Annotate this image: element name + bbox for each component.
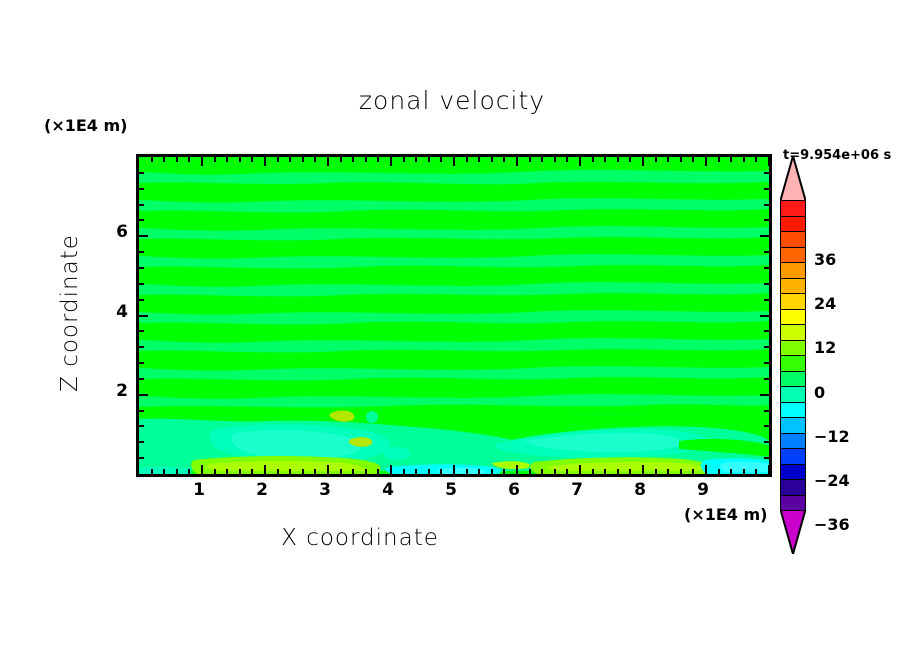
x-tick bbox=[163, 469, 165, 474]
x-tick bbox=[453, 157, 455, 166]
x-tick bbox=[239, 157, 241, 162]
y-tick bbox=[764, 267, 769, 269]
x-tick bbox=[340, 157, 342, 162]
x-tick bbox=[277, 157, 279, 162]
y-tick bbox=[760, 394, 769, 396]
y-tick-label: 4 bbox=[98, 302, 128, 322]
y-tick bbox=[764, 378, 769, 380]
colorbar-under-arrow bbox=[780, 508, 806, 554]
x-tick bbox=[529, 157, 531, 162]
x-tick bbox=[718, 469, 720, 474]
y-axis-unit-label: (×1E4 m) bbox=[44, 116, 127, 135]
y-tick bbox=[139, 235, 148, 237]
y-tick bbox=[139, 441, 144, 443]
y-tick bbox=[764, 362, 769, 364]
x-tick bbox=[214, 469, 216, 474]
y-tick bbox=[764, 283, 769, 285]
colorbar-tick-label: 36 bbox=[814, 250, 836, 269]
x-tick bbox=[176, 157, 178, 162]
y-tick bbox=[764, 219, 769, 221]
contour-plot-area bbox=[136, 154, 772, 477]
y-tick bbox=[139, 172, 144, 174]
x-tick bbox=[491, 469, 493, 474]
x-tick bbox=[692, 469, 694, 474]
y-tick-label: 6 bbox=[98, 222, 128, 242]
x-tick bbox=[403, 469, 405, 474]
x-tick-label: 6 bbox=[499, 480, 529, 500]
x-tick bbox=[352, 157, 354, 162]
y-tick bbox=[764, 425, 769, 427]
y-tick bbox=[764, 299, 769, 301]
colorbar-band bbox=[780, 324, 806, 341]
x-tick-label: 7 bbox=[562, 480, 592, 500]
colorbar-band bbox=[780, 417, 806, 434]
x-tick bbox=[730, 469, 732, 474]
x-tick bbox=[214, 157, 216, 162]
y-tick-label: 2 bbox=[98, 381, 128, 401]
velocity-field bbox=[139, 157, 769, 474]
x-tick bbox=[541, 157, 543, 162]
x-tick bbox=[755, 157, 757, 162]
x-tick bbox=[743, 469, 745, 474]
x-tick bbox=[352, 469, 354, 474]
colorbar-band bbox=[780, 402, 806, 419]
x-tick bbox=[680, 157, 682, 162]
x-tick bbox=[314, 469, 316, 474]
colorbar-band bbox=[780, 433, 806, 450]
x-tick bbox=[617, 157, 619, 162]
x-tick bbox=[579, 465, 581, 474]
x-tick bbox=[251, 157, 253, 162]
colorbar-band bbox=[780, 309, 806, 326]
x-tick bbox=[604, 469, 606, 474]
x-tick bbox=[390, 465, 392, 474]
colorbar-band bbox=[780, 200, 806, 217]
x-tick bbox=[440, 469, 442, 474]
y-tick bbox=[139, 410, 144, 412]
colorbar-band bbox=[780, 386, 806, 403]
x-tick bbox=[365, 157, 367, 162]
y-tick bbox=[764, 330, 769, 332]
x-tick bbox=[541, 469, 543, 474]
colorbar-band bbox=[780, 262, 806, 279]
y-tick bbox=[139, 425, 144, 427]
x-tick bbox=[579, 157, 581, 166]
x-tick bbox=[466, 157, 468, 162]
x-tick bbox=[302, 157, 304, 162]
x-tick bbox=[768, 465, 770, 474]
y-axis-label: Z coordinate bbox=[57, 203, 83, 423]
y-tick bbox=[764, 346, 769, 348]
y-tick bbox=[139, 394, 148, 396]
x-tick bbox=[566, 157, 568, 162]
colorbar-tick-label: −36 bbox=[814, 515, 850, 534]
x-tick bbox=[491, 157, 493, 162]
x-tick bbox=[478, 157, 480, 162]
x-tick-label: 5 bbox=[436, 480, 466, 500]
y-tick bbox=[764, 251, 769, 253]
x-tick-label: 1 bbox=[184, 480, 214, 500]
x-tick bbox=[201, 465, 203, 474]
colorbar-tick-label: −12 bbox=[814, 427, 850, 446]
x-tick bbox=[163, 157, 165, 162]
colorbar-tick-label: 0 bbox=[814, 383, 825, 402]
colorbar-band bbox=[780, 464, 806, 481]
y-tick bbox=[139, 457, 144, 459]
x-tick bbox=[415, 469, 417, 474]
y-tick bbox=[139, 346, 144, 348]
x-tick bbox=[516, 465, 518, 474]
colorbar-band bbox=[780, 355, 806, 372]
y-tick bbox=[764, 441, 769, 443]
x-tick bbox=[554, 157, 556, 162]
x-tick bbox=[516, 157, 518, 166]
x-tick bbox=[692, 157, 694, 162]
colorbar-over-arrow bbox=[780, 156, 806, 202]
x-tick bbox=[264, 465, 266, 474]
y-tick bbox=[760, 315, 769, 317]
y-tick bbox=[139, 267, 144, 269]
x-tick bbox=[264, 157, 266, 166]
x-tick bbox=[289, 469, 291, 474]
x-tick bbox=[503, 157, 505, 162]
x-tick bbox=[466, 469, 468, 474]
x-tick bbox=[629, 469, 631, 474]
colorbar-tick-label: 12 bbox=[814, 338, 836, 357]
x-tick bbox=[176, 469, 178, 474]
x-tick bbox=[302, 469, 304, 474]
x-tick bbox=[718, 157, 720, 162]
x-tick bbox=[226, 469, 228, 474]
x-tick bbox=[377, 157, 379, 162]
y-tick bbox=[760, 235, 769, 237]
colorbar-band bbox=[780, 278, 806, 295]
x-tick bbox=[151, 469, 153, 474]
x-tick bbox=[440, 157, 442, 162]
colorbar-band bbox=[780, 479, 806, 496]
y-tick bbox=[139, 188, 144, 190]
x-tick bbox=[226, 157, 228, 162]
y-tick bbox=[139, 378, 144, 380]
x-tick bbox=[239, 469, 241, 474]
y-tick bbox=[764, 172, 769, 174]
x-tick bbox=[629, 157, 631, 162]
y-tick bbox=[764, 457, 769, 459]
x-tick bbox=[201, 157, 203, 166]
x-tick bbox=[566, 469, 568, 474]
x-tick-label: 4 bbox=[373, 480, 403, 500]
colorbar-band bbox=[780, 247, 806, 264]
colorbar-tick-label: −24 bbox=[814, 471, 850, 490]
x-tick bbox=[188, 157, 190, 162]
x-tick bbox=[377, 469, 379, 474]
x-tick bbox=[340, 469, 342, 474]
x-tick bbox=[188, 469, 190, 474]
x-tick bbox=[705, 465, 707, 474]
y-tick bbox=[764, 410, 769, 412]
x-tick bbox=[730, 157, 732, 162]
x-tick bbox=[655, 157, 657, 162]
x-tick bbox=[554, 469, 556, 474]
x-tick bbox=[327, 465, 329, 474]
x-tick-label: 3 bbox=[310, 480, 340, 500]
y-tick bbox=[139, 362, 144, 364]
x-axis-label: X coordinate bbox=[0, 525, 720, 551]
x-tick bbox=[768, 157, 770, 166]
x-tick bbox=[277, 469, 279, 474]
x-tick-label: 2 bbox=[247, 480, 277, 500]
colorbar-band bbox=[780, 495, 806, 512]
colorbar-tick-label: 24 bbox=[814, 294, 836, 313]
x-tick bbox=[453, 465, 455, 474]
x-axis-unit-label: (×1E4 m) bbox=[684, 505, 767, 524]
x-tick bbox=[415, 157, 417, 162]
x-tick bbox=[642, 157, 644, 166]
x-tick bbox=[743, 157, 745, 162]
y-tick bbox=[764, 188, 769, 190]
y-tick bbox=[764, 204, 769, 206]
x-tick bbox=[151, 157, 153, 162]
y-tick bbox=[139, 204, 144, 206]
y-tick bbox=[139, 315, 148, 317]
x-tick bbox=[680, 469, 682, 474]
chart-title: zonal velocity bbox=[0, 86, 904, 115]
y-tick bbox=[139, 330, 144, 332]
y-tick bbox=[139, 283, 144, 285]
x-tick bbox=[655, 469, 657, 474]
x-tick bbox=[529, 469, 531, 474]
colorbar-band bbox=[780, 371, 806, 388]
x-tick bbox=[289, 157, 291, 162]
x-tick bbox=[327, 157, 329, 166]
y-tick bbox=[139, 251, 144, 253]
y-tick bbox=[139, 219, 144, 221]
x-tick bbox=[642, 465, 644, 474]
x-tick bbox=[667, 157, 669, 162]
x-tick bbox=[667, 469, 669, 474]
x-tick bbox=[705, 157, 707, 166]
x-tick bbox=[314, 157, 316, 162]
colorbar-band bbox=[780, 448, 806, 465]
x-tick bbox=[428, 469, 430, 474]
x-tick bbox=[478, 469, 480, 474]
colorbar: 3624120−12−24−36 bbox=[780, 200, 808, 510]
x-tick bbox=[251, 469, 253, 474]
colorbar-band bbox=[780, 340, 806, 357]
x-tick-label: 8 bbox=[625, 480, 655, 500]
x-tick bbox=[390, 157, 392, 166]
y-tick bbox=[139, 299, 144, 301]
x-tick bbox=[428, 157, 430, 162]
x-tick bbox=[592, 469, 594, 474]
x-tick bbox=[403, 157, 405, 162]
x-tick bbox=[617, 469, 619, 474]
x-tick bbox=[592, 157, 594, 162]
x-tick-label: 9 bbox=[688, 480, 718, 500]
colorbar-band bbox=[780, 231, 806, 248]
x-tick bbox=[604, 157, 606, 162]
colorbar-band bbox=[780, 216, 806, 233]
x-tick bbox=[503, 469, 505, 474]
x-tick bbox=[755, 469, 757, 474]
x-tick bbox=[365, 469, 367, 474]
colorbar-band bbox=[780, 293, 806, 310]
